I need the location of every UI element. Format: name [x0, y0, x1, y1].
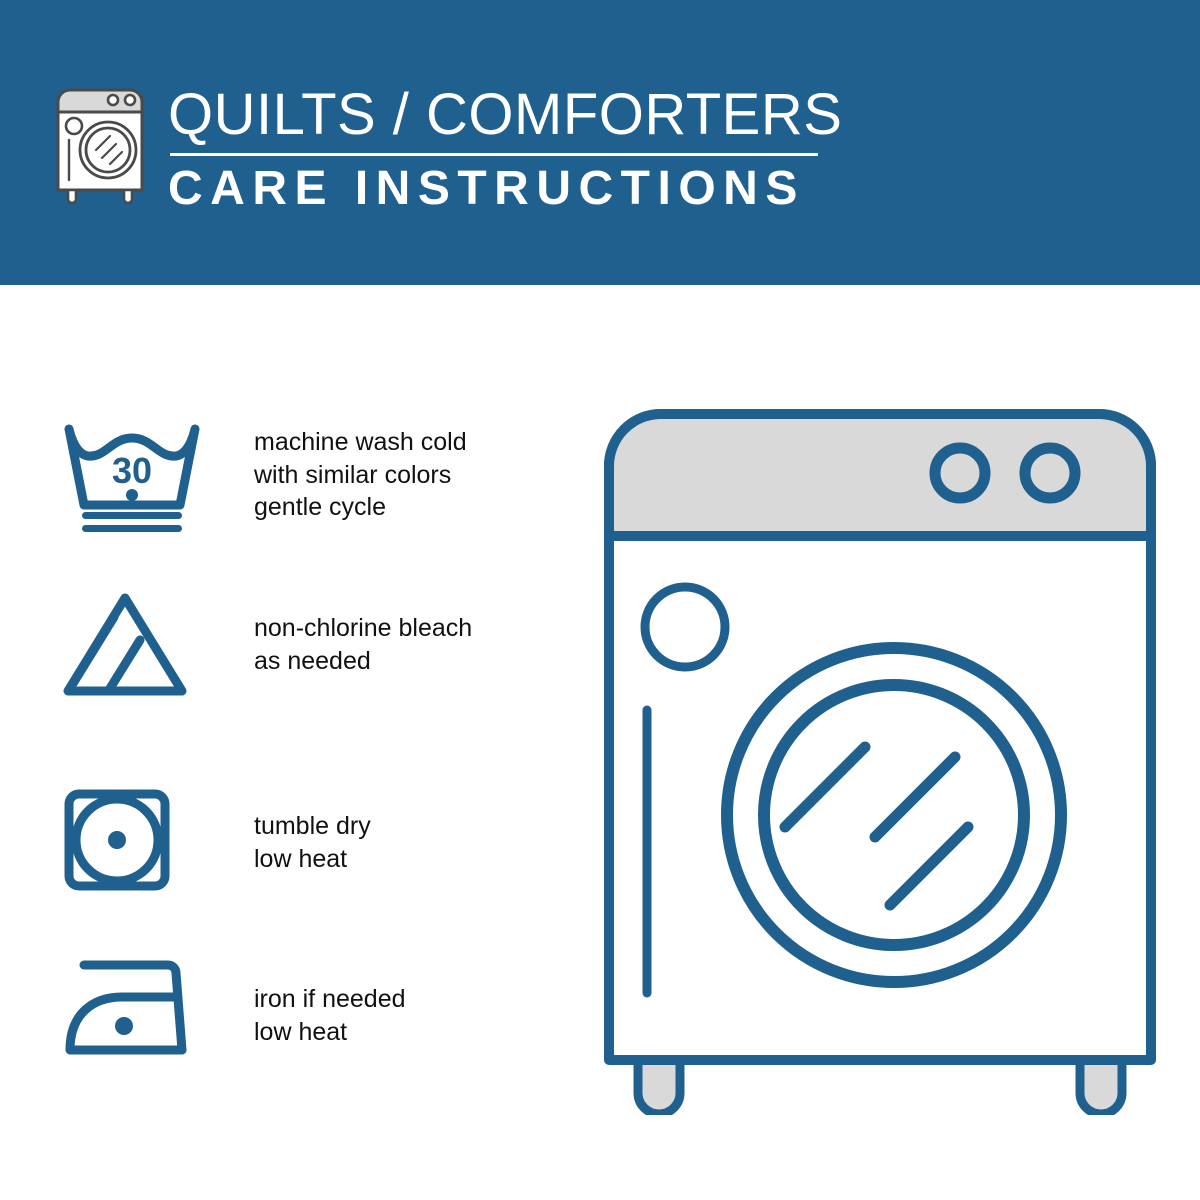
instruction-row-bleach: non-chlorine bleach as needed — [0, 590, 520, 710]
front-load-washing-machine-illustration — [600, 405, 1160, 1120]
instruction-label-bleach: non-chlorine bleach as needed — [254, 612, 472, 677]
care-instructions-page: QUILTS / COMFORTERS CARE INSTRUCTIONS 30… — [0, 0, 1200, 1200]
iron-low-heat-icon — [60, 955, 190, 1065]
wash-temperature-label: 30 — [112, 450, 152, 491]
low-heat-dot — [108, 831, 126, 849]
instruction-label-iron: iron if needed low heat — [254, 983, 406, 1048]
tumble-dry-low-icon — [60, 785, 175, 900]
instruction-label-wash: machine wash cold with similar colors ge… — [254, 426, 467, 524]
header-title-block: QUILTS / COMFORTERS CARE INSTRUCTIONS — [168, 85, 828, 215]
gentle-cycle-bar-1 — [82, 512, 182, 519]
instruction-row-tumble-dry: tumble dry low heat — [0, 785, 520, 900]
title-divider — [170, 153, 818, 156]
detergent-indicator-circle — [645, 587, 725, 667]
gentle-cycle-bar-2 — [82, 525, 182, 532]
header-band: QUILTS / COMFORTERS CARE INSTRUCTIONS — [0, 0, 1200, 285]
page-title-primary: QUILTS / COMFORTERS — [168, 85, 828, 145]
low-heat-dot — [115, 1017, 133, 1035]
page-title-secondary: CARE INSTRUCTIONS — [168, 163, 828, 215]
wash-tub-30-gentle-icon: 30 — [60, 420, 205, 540]
washing-machine-icon — [50, 82, 150, 212]
instruction-row-wash: 30 machine wash cold with similar colors… — [0, 420, 520, 550]
gentle-cycle-dot — [126, 489, 138, 501]
instruction-row-iron: iron if needed low heat — [0, 955, 520, 1070]
instruction-label-tumble-dry: tumble dry low heat — [254, 810, 371, 875]
non-chlorine-bleach-triangle-icon — [60, 590, 190, 705]
